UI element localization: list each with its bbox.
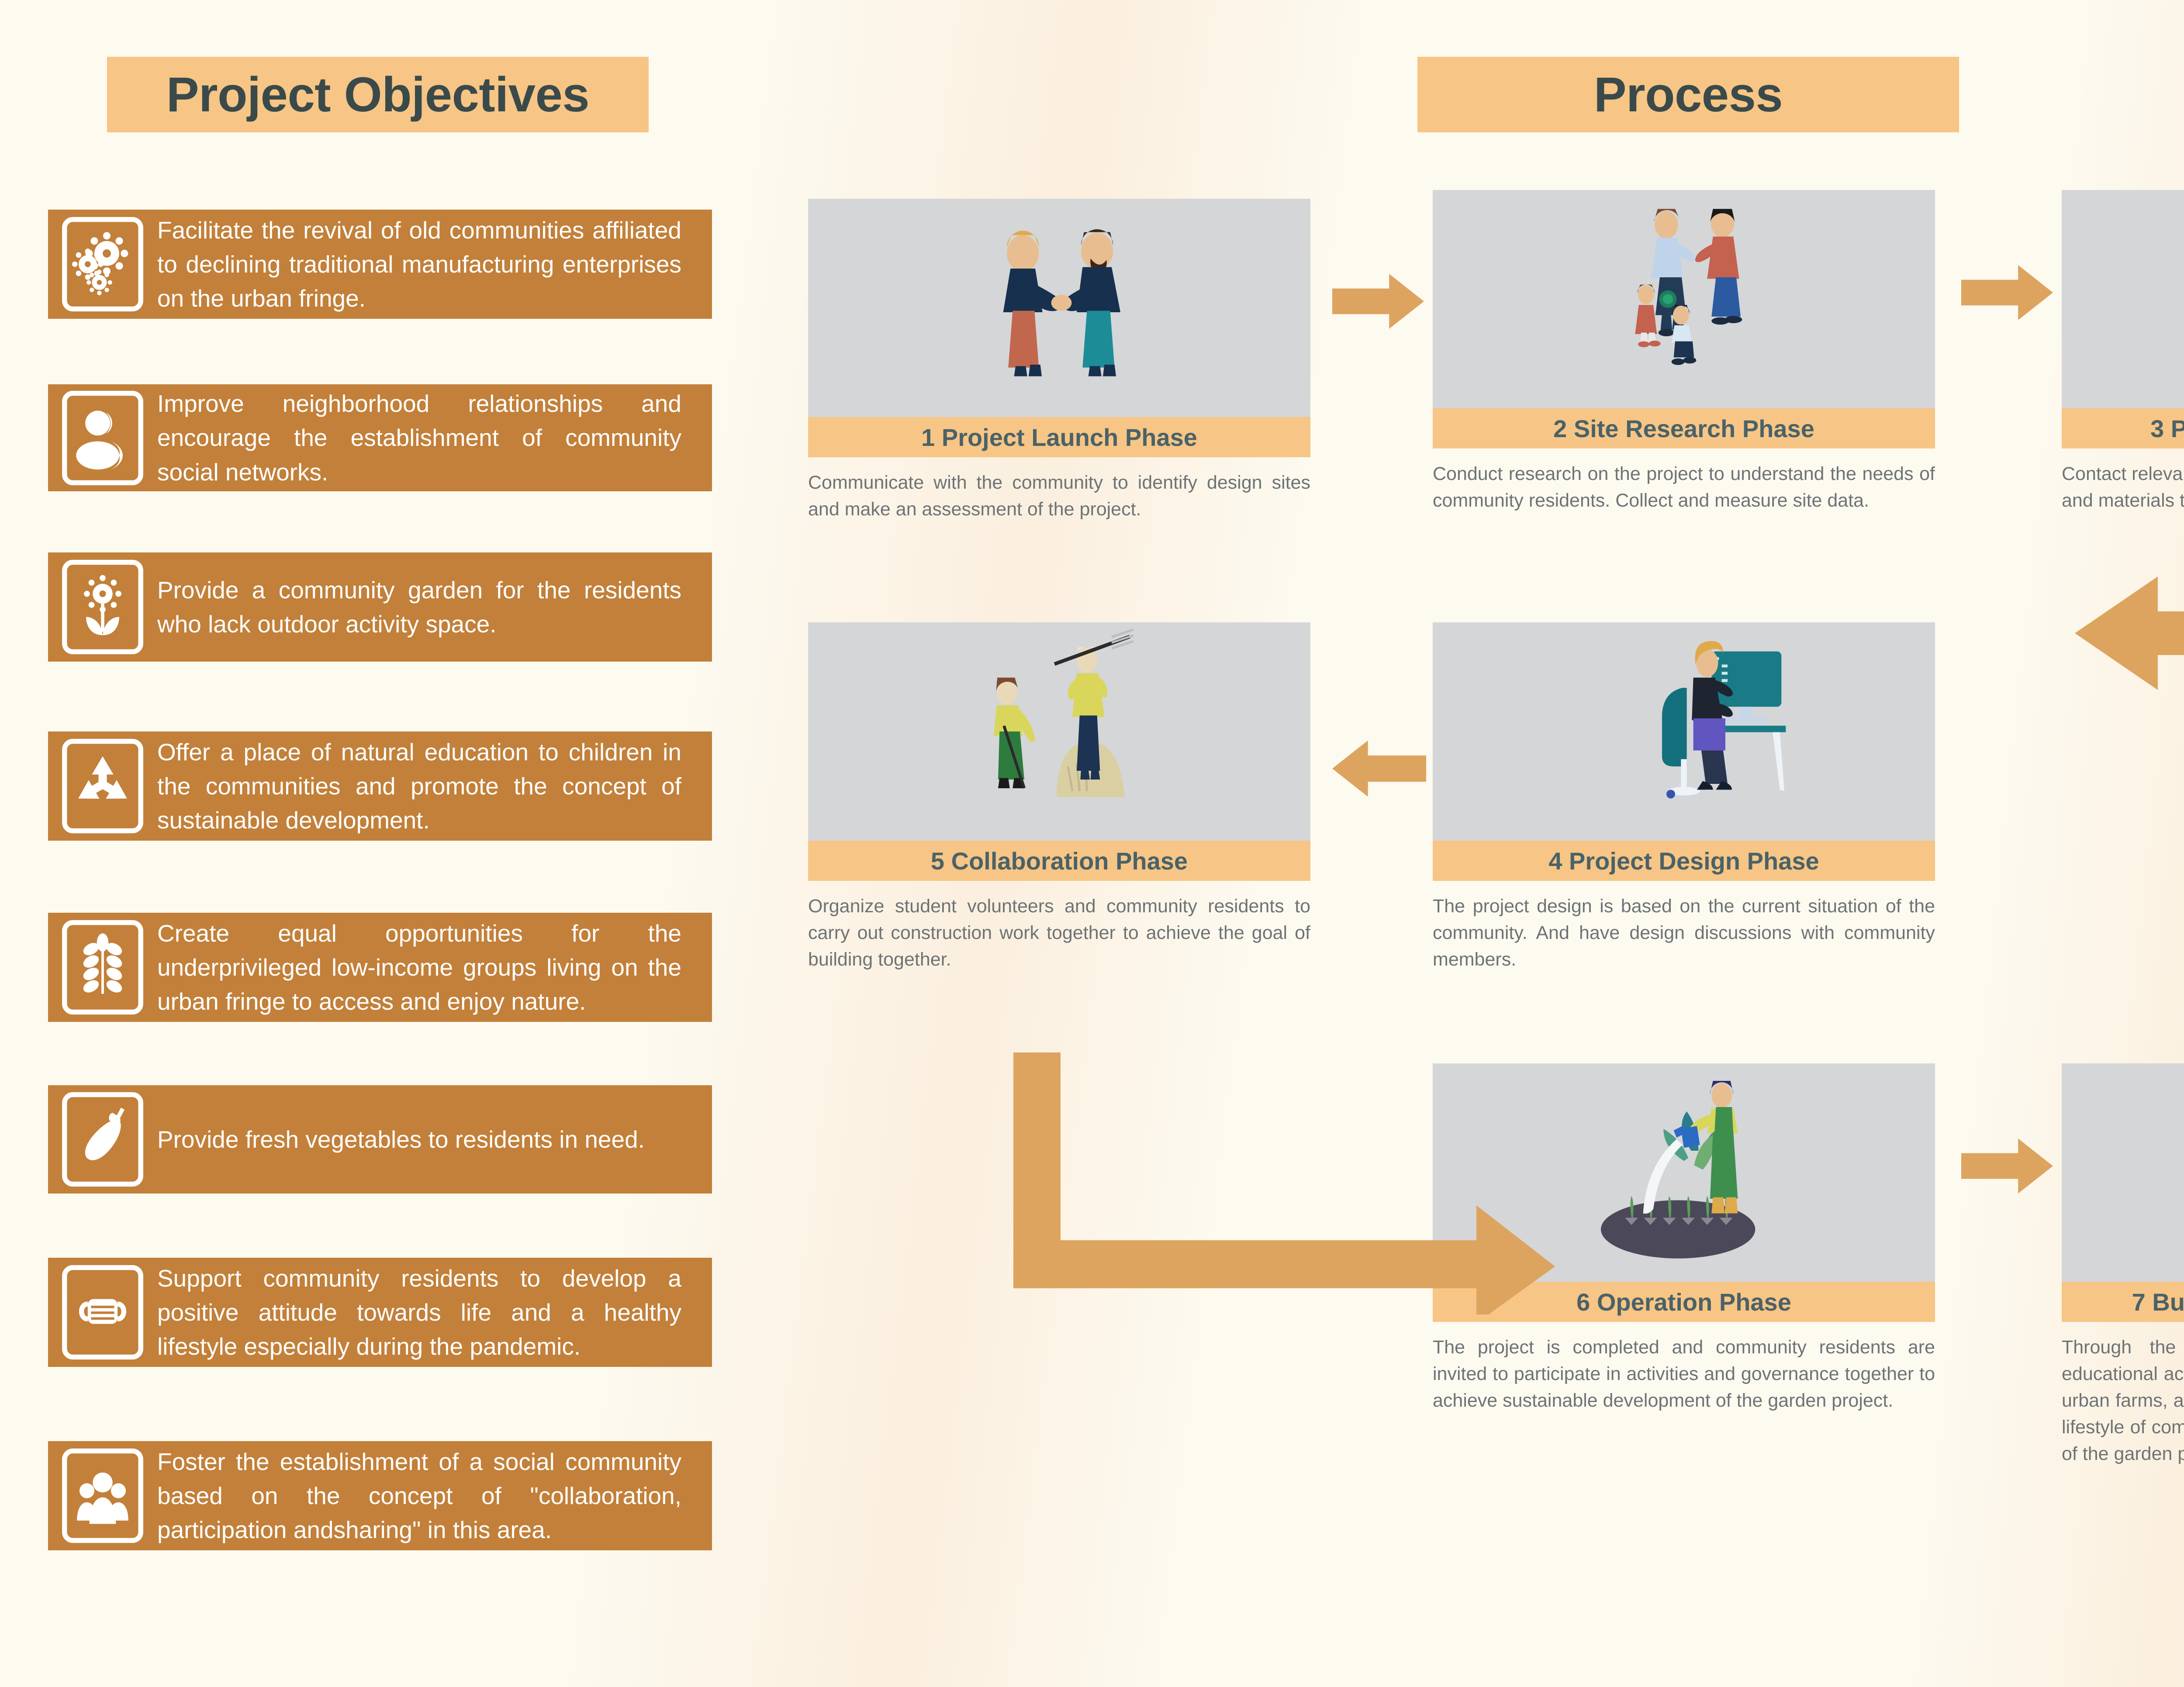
process-arrow (1961, 1135, 2053, 1199)
objective-card: Foster the establishment of a social com… (48, 1441, 712, 1550)
designer-at-computer-illustration (1433, 622, 1935, 841)
objective-text: Support community residents to develop a… (157, 1261, 712, 1363)
phase-description: Through the garden project platform, we … (2062, 1334, 2184, 1467)
objective-card: Offer a place of natural education to ch… (48, 731, 712, 841)
process-phase-card: 5 Collaboration PhaseOrganize student vo… (808, 622, 1310, 973)
people-icon (48, 390, 157, 486)
community-garden-group-illustration (2062, 1063, 2184, 1282)
phase-description: Organize student volunteers and communit… (808, 893, 1310, 973)
family-meeting-illustration (1433, 190, 1935, 408)
phase-title: 4 Project Design Phase (1433, 841, 1935, 881)
objective-card: Provide fresh vegetables to residents in… (48, 1085, 712, 1194)
objective-card: Facilitate the revival of old communitie… (48, 210, 712, 319)
face-mask-icon (48, 1264, 157, 1360)
objective-card: Support community residents to develop a… (48, 1258, 712, 1367)
process-phase-card: 4 Project Design PhaseThe project design… (1433, 622, 1935, 973)
project-objectives-column: Project Objectives Facilitate the reviva… (48, 0, 729, 1687)
objective-text: Facilitate the revival of old communitie… (157, 213, 712, 315)
phase-title: 1 Project Launch Phase (808, 417, 1310, 457)
process-phase-card: 1 Project Launch PhaseCommunicate with t… (808, 199, 1310, 523)
objective-card: Provide a community garden for the resid… (48, 552, 712, 662)
objective-card: Create equal opportunities for the under… (48, 913, 712, 1022)
process-header: Process (1417, 57, 1959, 132)
process-arrow (1332, 738, 1426, 801)
eggplant-icon (48, 1091, 157, 1187)
recycle-icon (48, 738, 157, 834)
process-arrow (1961, 262, 2053, 325)
phase-description: The project is completed and community r… (1433, 1334, 1935, 1414)
objective-text: Foster the establishment of a social com… (157, 1445, 712, 1547)
process-arrow (961, 1052, 1555, 1317)
objective-text: Create equal opportunities for the under… (157, 916, 712, 1018)
objective-text: Offer a place of natural education to ch… (157, 735, 712, 837)
process-phase-card: 2 Site Research PhaseConduct research on… (1433, 190, 1935, 514)
objective-text: Provide fresh vegetables to residents in… (157, 1122, 675, 1156)
flower-icon (48, 559, 157, 655)
wheat-icon (48, 919, 157, 1015)
two-workers-illustration (808, 622, 1310, 841)
process-arrow (1332, 271, 1424, 334)
process-phase-card: 7 Build a Platform for ActivitiesThrough… (2062, 1063, 2184, 1467)
farmer-with-hoe-illustration (2062, 190, 2184, 408)
phase-description: Communicate with the community to identi… (808, 469, 1310, 523)
objective-card: Improve neighborhood relationships and e… (48, 384, 712, 491)
project-objectives-header: Project Objectives (107, 57, 649, 132)
group-people-icon (48, 1448, 157, 1544)
gears-icon (48, 216, 157, 312)
phase-title: 2 Site Research Phase (1433, 408, 1935, 448)
phase-title: 5 Collaboration Phase (808, 841, 1310, 881)
process-arrow (2075, 419, 2184, 692)
handshake-illustration (808, 199, 1310, 417)
objective-text: Improve neighborhood relationships and e… (157, 386, 712, 489)
objective-text: Provide a community garden for the resid… (157, 573, 712, 641)
process-column: Process 1 Project Launch PhaseCommunicat… (808, 0, 2184, 1687)
phase-title: 7 Build a Platform for Activities (2062, 1282, 2184, 1322)
phase-description: The project design is based on the curre… (1433, 893, 1935, 973)
phase-description: Conduct research on the project to under… (1433, 461, 1935, 514)
